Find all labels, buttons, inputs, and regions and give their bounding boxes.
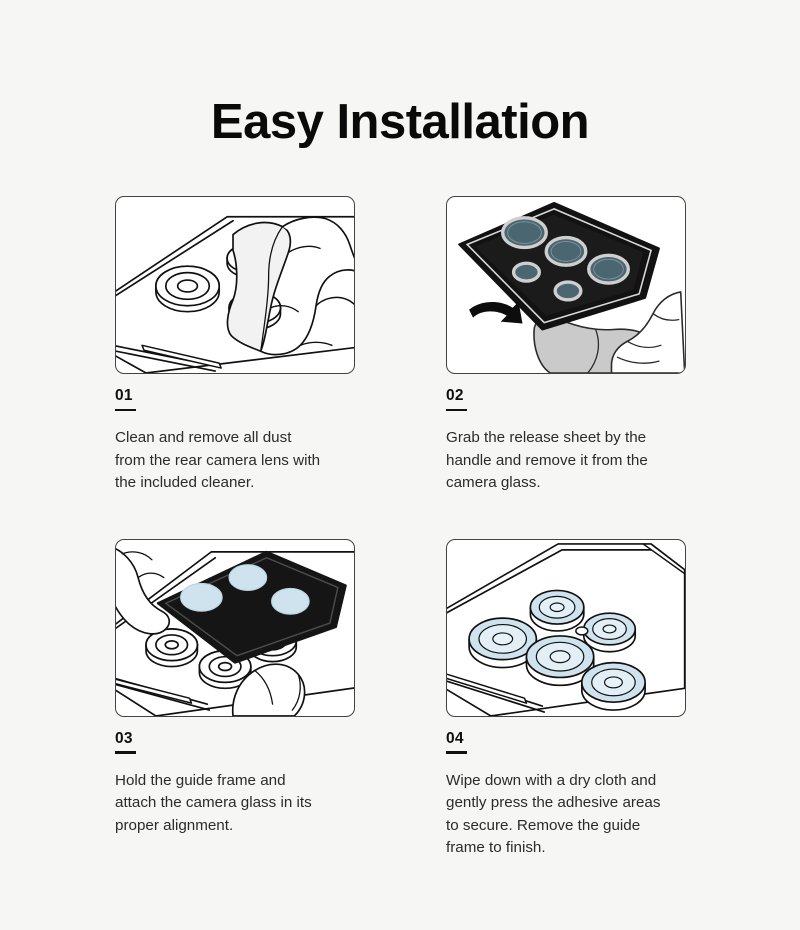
step-04-number-rule xyxy=(446,751,467,754)
peeling-release-sheet-icon xyxy=(447,197,685,373)
step-02-number-rule xyxy=(446,409,467,412)
step-01-number: 01 xyxy=(115,388,357,404)
step-04-number: 04 xyxy=(446,731,688,747)
step-04-description: Wipe down with a dry cloth and gently pr… xyxy=(446,770,688,860)
step-02-number: 02 xyxy=(446,388,688,404)
step-01-description: Clean and remove all dust from the rear … xyxy=(115,427,357,495)
hand-wiping-camera-lens-icon xyxy=(116,197,354,373)
step-04: 04 Wipe down with a dry cloth and gently… xyxy=(446,539,688,860)
step-03-illustration-panel xyxy=(115,539,355,717)
step-03-number-rule xyxy=(115,751,136,754)
step-03: 03 Hold the guide frame and attach the c… xyxy=(115,539,357,860)
step-02-illustration-panel xyxy=(446,196,686,374)
step-04-illustration-panel xyxy=(446,539,686,717)
step-02: 02 Grab the release sheet by the handle … xyxy=(446,196,688,495)
aligning-guide-frame-icon xyxy=(116,540,354,716)
page-title: Easy Installation xyxy=(0,93,800,152)
installation-guide-page: Easy Installation xyxy=(0,0,800,930)
step-03-number: 03 xyxy=(115,731,357,747)
step-01: 01 Clean and remove all dust from the re… xyxy=(115,196,357,495)
steps-row-bottom: 03 Hold the guide frame and attach the c… xyxy=(115,539,688,860)
steps-row-top: 01 Clean and remove all dust from the re… xyxy=(115,196,688,495)
step-01-number-rule xyxy=(115,409,136,412)
step-01-illustration-panel xyxy=(115,196,355,374)
finished-lens-protectors-icon xyxy=(447,540,685,716)
step-03-description: Hold the guide frame and attach the came… xyxy=(115,770,357,838)
step-02-description: Grab the release sheet by the handle and… xyxy=(446,427,688,495)
steps-grid: 01 Clean and remove all dust from the re… xyxy=(115,196,688,860)
